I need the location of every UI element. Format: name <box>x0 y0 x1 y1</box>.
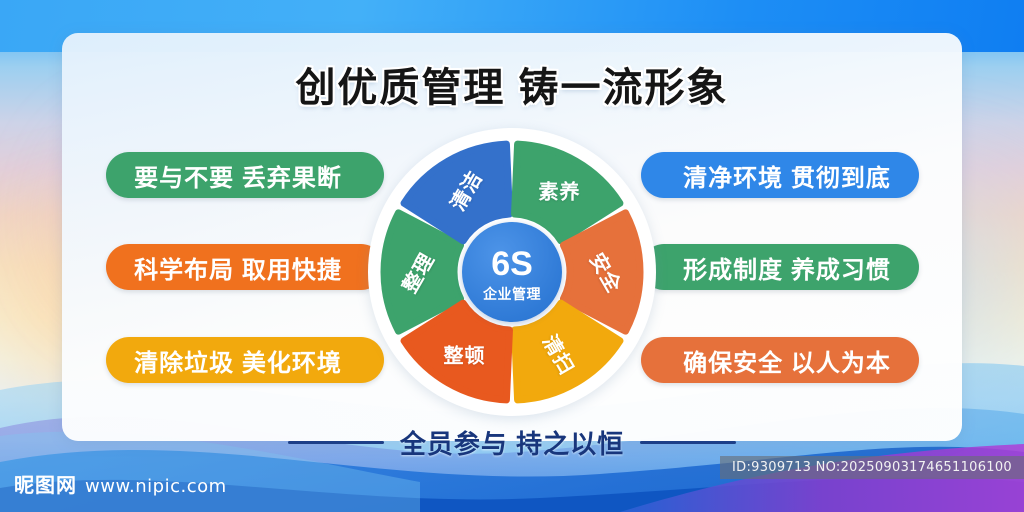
wheel-center-badge: 6S 企业管理 <box>462 222 562 322</box>
page-title: 创优质管理 铸一流形象 <box>0 55 1024 113</box>
image-id-badge: ID:9309713 NO:20250903174651106100 <box>720 456 1024 479</box>
wheel-segment-label-zhengdun: 整顿 <box>444 340 486 369</box>
wheel-center-sub-text: 企业管理 <box>483 287 541 301</box>
pill-right-1-label: 清净环境 贯彻到底 <box>683 158 891 193</box>
pill-right-3[interactable]: 确保安全 以人为本 <box>641 337 919 383</box>
wheel-segment-label-suyang: 素养 <box>539 175 581 204</box>
slogan-rule-left <box>288 441 384 444</box>
pill-right-3-label: 确保安全 以人为本 <box>683 343 891 378</box>
pill-right-2-label: 形成制度 养成习惯 <box>683 250 891 285</box>
footer-slogan-text: 全员参与 持之以恒 <box>400 424 624 461</box>
wheel-center-main-text: 6S <box>491 247 533 281</box>
six-s-wheel-diagram: 整理 清洁 素养 安全 清扫 整顿 6S 企业管理 <box>368 128 656 416</box>
pill-right-2[interactable]: 形成制度 养成习惯 <box>641 244 919 290</box>
pill-left-2[interactable]: 科学布局 取用快捷 <box>106 244 384 290</box>
pill-right-1[interactable]: 清净环境 贯彻到底 <box>641 152 919 198</box>
slogan-rule-right <box>640 441 736 444</box>
pill-left-3[interactable]: 清除垃圾 美化环境 <box>106 337 384 383</box>
site-watermark: 昵图网 www.nipic.com <box>14 469 227 498</box>
watermark-site-url: www.nipic.com <box>85 476 227 497</box>
pill-left-2-label: 科学布局 取用快捷 <box>134 250 342 285</box>
pill-left-1[interactable]: 要与不要 丢弃果断 <box>106 152 384 198</box>
pill-left-1-label: 要与不要 丢弃果断 <box>134 158 342 193</box>
watermark-site-name: 昵图网 <box>14 469 77 498</box>
pill-left-3-label: 清除垃圾 美化环境 <box>134 343 342 378</box>
poster-canvas: 创优质管理 铸一流形象 要与不要 丢弃果断 科学布局 取用快捷 清除垃圾 美化环… <box>0 0 1024 512</box>
